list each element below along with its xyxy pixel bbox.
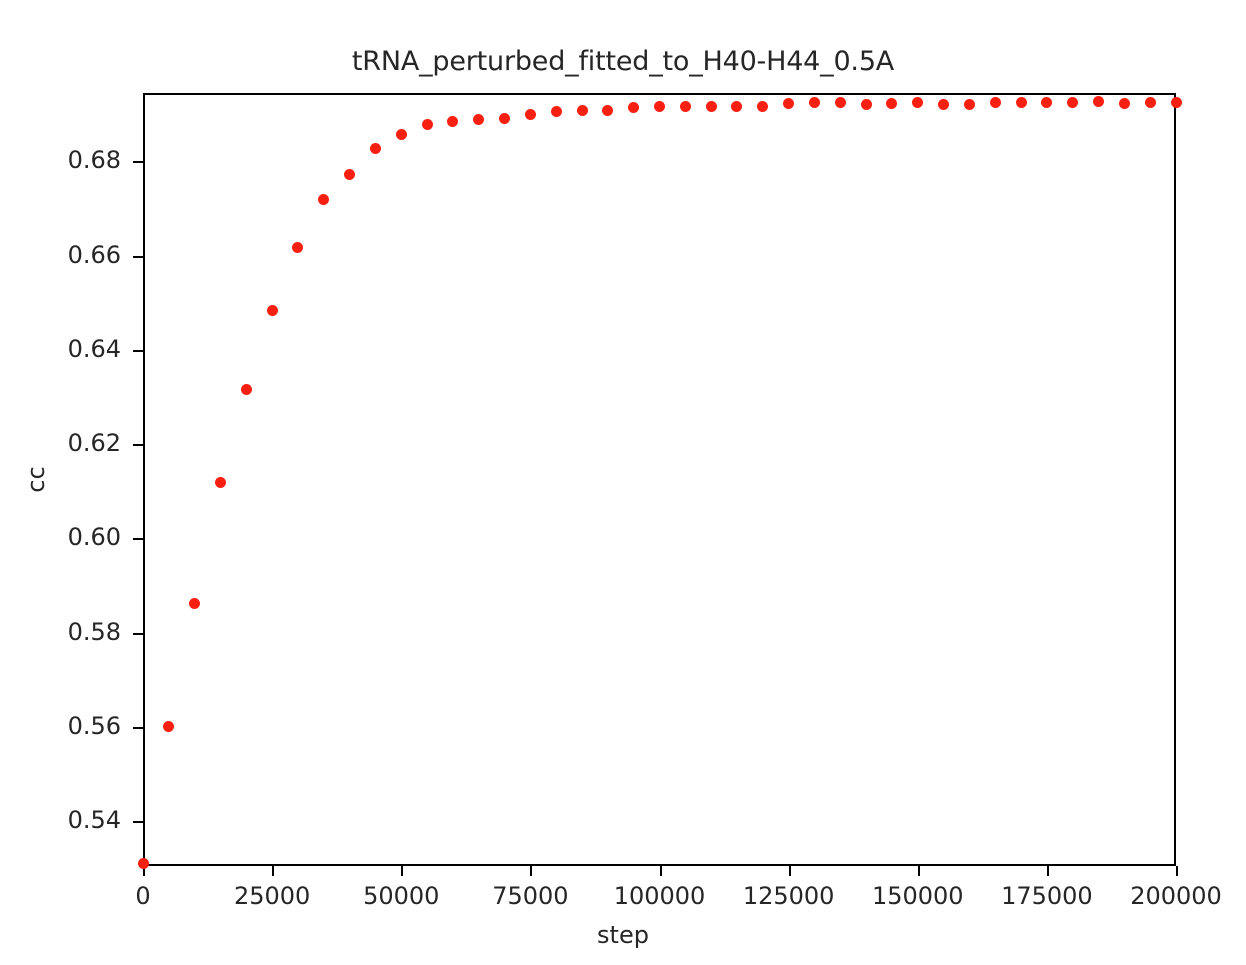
x-axis-tick-label: 175000	[1001, 882, 1093, 910]
y-axis-tick	[133, 538, 143, 540]
figure-canvas: tRNA_perturbed_fitted_to_H40-H44_0.5A 0.…	[0, 0, 1246, 965]
x-axis-tick	[1047, 866, 1049, 876]
x-axis-tick-label: 200000	[1130, 882, 1222, 910]
x-axis-tick	[1176, 866, 1178, 876]
x-axis-tick-label: 125000	[743, 882, 835, 910]
y-axis-label: cc	[22, 93, 52, 866]
y-axis-tick	[133, 444, 143, 446]
x-axis-tick-label: 150000	[872, 882, 964, 910]
plot-area	[143, 93, 1176, 866]
y-axis-tick-label: 0.60	[68, 523, 121, 551]
x-axis-tick	[401, 866, 403, 876]
y-axis-tick-label: 0.56	[68, 712, 121, 740]
x-axis-label: step	[0, 921, 1246, 949]
x-axis-tick	[660, 866, 662, 876]
x-axis-tick	[530, 866, 532, 876]
x-axis-tick-label: 0	[135, 882, 150, 910]
y-axis-tick-label: 0.64	[68, 335, 121, 363]
y-axis-tick-label: 0.58	[68, 618, 121, 646]
y-axis-tick-label: 0.62	[68, 429, 121, 457]
y-axis-tick-label: 0.66	[68, 241, 121, 269]
y-axis-tick	[133, 350, 143, 352]
x-axis-tick-label: 50000	[363, 882, 439, 910]
x-axis-tick-label: 25000	[234, 882, 310, 910]
y-axis-tick	[133, 821, 143, 823]
x-axis-tick	[143, 866, 145, 876]
y-axis-tick-label: 0.68	[68, 146, 121, 174]
y-axis-tick	[133, 633, 143, 635]
x-axis-tick	[272, 866, 274, 876]
y-axis-tick	[133, 727, 143, 729]
y-axis-tick-label: 0.54	[68, 806, 121, 834]
chart-title: tRNA_perturbed_fitted_to_H40-H44_0.5A	[0, 46, 1246, 77]
y-axis-tick	[133, 161, 143, 163]
x-axis-tick-label: 100000	[614, 882, 706, 910]
x-axis-tick	[918, 866, 920, 876]
y-axis-tick	[133, 256, 143, 258]
x-axis-tick-label: 75000	[492, 882, 568, 910]
x-axis-tick	[789, 866, 791, 876]
